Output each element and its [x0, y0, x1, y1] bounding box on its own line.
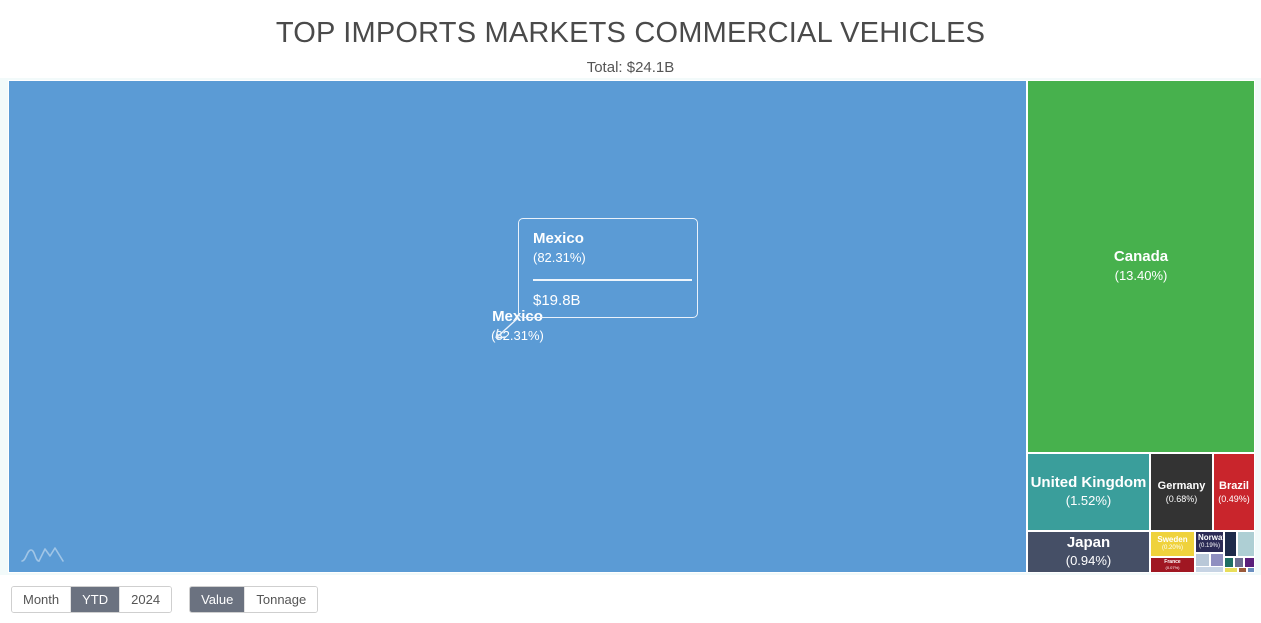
treemap-tile-japan[interactable]: Japan (0.94%) — [1027, 531, 1150, 573]
treemap: Mexico (82.31%) Canada (13.40%) United K… — [8, 80, 1255, 573]
treemap-tile-other[interactable] — [1237, 531, 1255, 557]
treemap-tile-mexico[interactable]: Mexico (82.31%) — [8, 80, 1027, 573]
period-button-month[interactable]: Month — [12, 587, 71, 612]
treemap-tile-canada[interactable]: Canada (13.40%) — [1027, 80, 1255, 453]
period-button-year[interactable]: 2024 — [120, 587, 171, 612]
metric-button-group: Value Tonnage — [189, 586, 318, 613]
tile-pct-united-kingdom: (1.52%) — [1028, 494, 1149, 509]
treemap-tile-other[interactable] — [1195, 566, 1224, 573]
tile-pct-mexico: (82.31%) — [9, 329, 1026, 344]
chart-header: TOP IMPORTS MARKETS COMMERCIAL VEHICLES … — [0, 0, 1261, 78]
tile-label-united-kingdom: United Kingdom — [1028, 475, 1149, 492]
tile-pct-brazil: (0.49%) — [1214, 494, 1254, 504]
treemap-tile-germany[interactable]: Germany (0.68%) — [1150, 453, 1213, 531]
tile-label-mexico: Mexico — [9, 309, 1026, 326]
page-title: TOP IMPORTS MARKETS COMMERCIAL VEHICLES — [0, 0, 1261, 48]
tile-pct-germany: (0.68%) — [1151, 494, 1212, 504]
period-button-group: Month YTD 2024 — [11, 586, 172, 613]
treemap-tile-brazil[interactable]: Brazil (0.49%) — [1213, 453, 1255, 531]
treemap-tile-france[interactable]: France (0.07%) — [1150, 557, 1195, 573]
treemap-tile-norway[interactable]: Norway (0.19%) — [1195, 531, 1224, 553]
treemap-tile-sweden[interactable]: Sweden (0.20%) — [1150, 531, 1195, 557]
chart-subtitle-total: Total: $24.1B — [0, 48, 1261, 75]
tile-label-canada: Canada — [1028, 249, 1254, 266]
period-button-ytd[interactable]: YTD — [71, 587, 120, 612]
treemap-tile-other[interactable] — [1224, 531, 1237, 557]
tile-label-germany: Germany — [1151, 480, 1212, 492]
treemap-tile-other[interactable] — [1224, 567, 1238, 573]
treemap-container: Mexico (82.31%) Canada (13.40%) United K… — [0, 78, 1261, 575]
metric-button-tonnage[interactable]: Tonnage — [245, 587, 317, 612]
treemap-tile-united-kingdom[interactable]: United Kingdom (1.52%) — [1027, 453, 1150, 531]
tile-label-japan: Japan — [1028, 535, 1149, 552]
chart-controls: Month YTD 2024 Value Tonnage — [0, 575, 1261, 623]
tile-label-brazil: Brazil — [1214, 480, 1254, 492]
metric-button-value[interactable]: Value — [190, 587, 245, 612]
tile-pct-sweden: (0.20%) — [1151, 545, 1194, 552]
treemap-tile-other[interactable] — [1247, 567, 1255, 573]
tile-pct-canada: (13.40%) — [1028, 269, 1254, 284]
tile-label-sweden: Sweden — [1151, 536, 1194, 545]
watermark-logo-icon — [20, 543, 66, 565]
tile-pct-norway: (0.19%) — [1196, 543, 1223, 550]
treemap-tile-other[interactable] — [1238, 567, 1247, 573]
treemap-app: TOP IMPORTS MARKETS COMMERCIAL VEHICLES … — [0, 0, 1261, 623]
tile-pct-japan: (0.94%) — [1028, 554, 1149, 569]
tile-label-norway: Norway — [1196, 534, 1223, 543]
tile-pct-france: (0.07%) — [1151, 566, 1194, 570]
